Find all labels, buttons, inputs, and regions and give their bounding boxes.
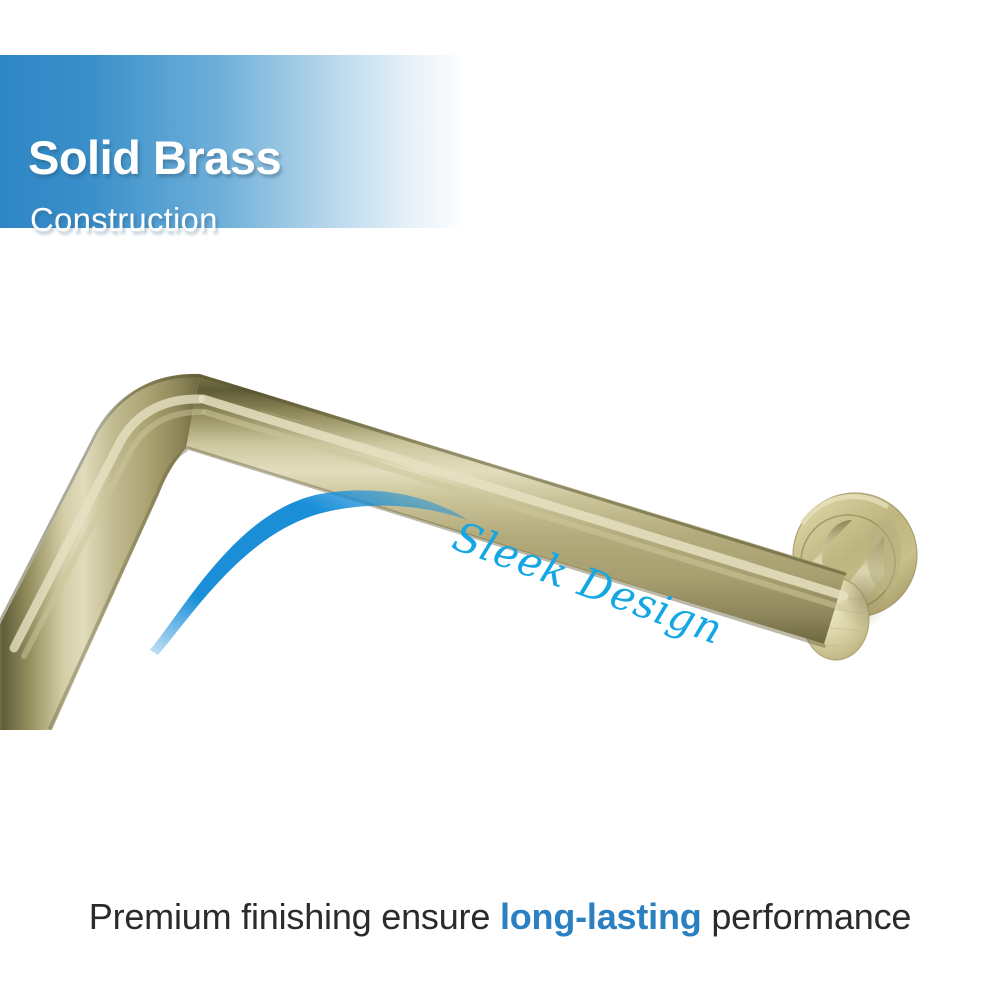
shower-arm-illustration bbox=[0, 300, 1000, 860]
caption-highlight: long-lasting bbox=[500, 896, 702, 937]
caption-lead: Premium finishing ensure bbox=[89, 896, 500, 937]
product-photo bbox=[0, 300, 1000, 860]
banner-title: Solid Brass bbox=[28, 134, 281, 181]
shower-arm-tube bbox=[0, 374, 846, 730]
banner: Solid Brass Construction bbox=[0, 55, 462, 228]
caption-tail: performance bbox=[702, 896, 912, 937]
banner-subtitle: Construction bbox=[30, 203, 218, 236]
caption: Premium finishing ensure long-lasting pe… bbox=[0, 896, 1000, 938]
product-feature-image: Solid Brass Construction bbox=[0, 0, 1000, 1000]
